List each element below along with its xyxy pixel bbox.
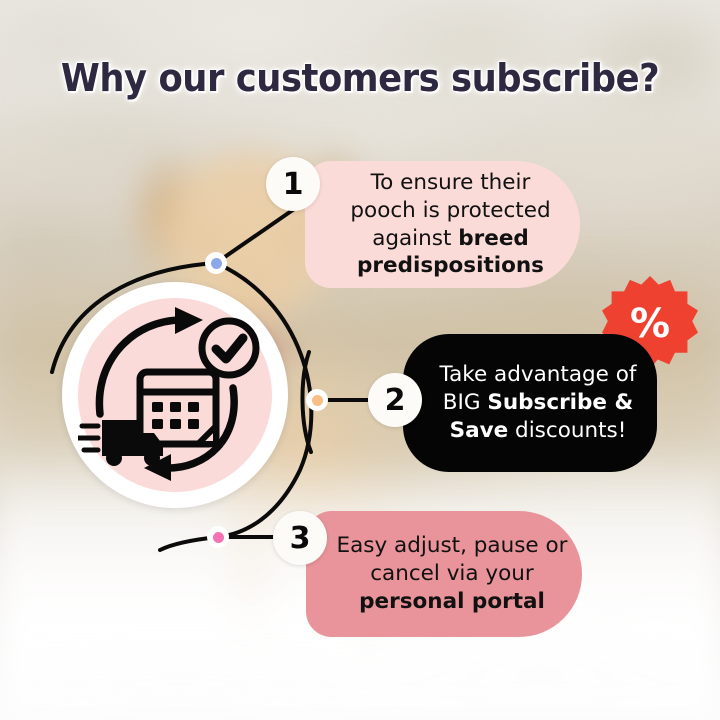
step-number-3: 3 <box>273 511 327 565</box>
connector-dot-3 <box>207 526 229 548</box>
benefit-card-3-text: Easy adjust, pause or cancel via your pe… <box>306 532 582 616</box>
connector-dot-2-core <box>312 395 323 406</box>
infographic-canvas: Why our customers subscribe? <box>0 0 720 720</box>
connector-dot-1 <box>205 252 227 274</box>
subscription-cycle-icon <box>78 298 272 492</box>
connector-dot-2 <box>306 389 328 411</box>
benefit-card-1: To ensure their pooch is protected again… <box>305 161 580 288</box>
benefit-card-1-text: To ensure their pooch is protected again… <box>305 169 580 281</box>
subscription-badge <box>62 282 288 508</box>
connector-dot-3-core <box>213 532 224 543</box>
step-number-1: 1 <box>266 157 320 211</box>
step-number-2: 2 <box>368 373 422 427</box>
benefit-card-2-text: Take advantage of BIG Subscribe & Save d… <box>403 361 657 445</box>
connector-dot-1-core <box>211 258 222 269</box>
benefit-card-3: Easy adjust, pause or cancel via your pe… <box>306 511 582 637</box>
benefit-card-2: Take advantage of BIG Subscribe & Save d… <box>403 334 657 472</box>
